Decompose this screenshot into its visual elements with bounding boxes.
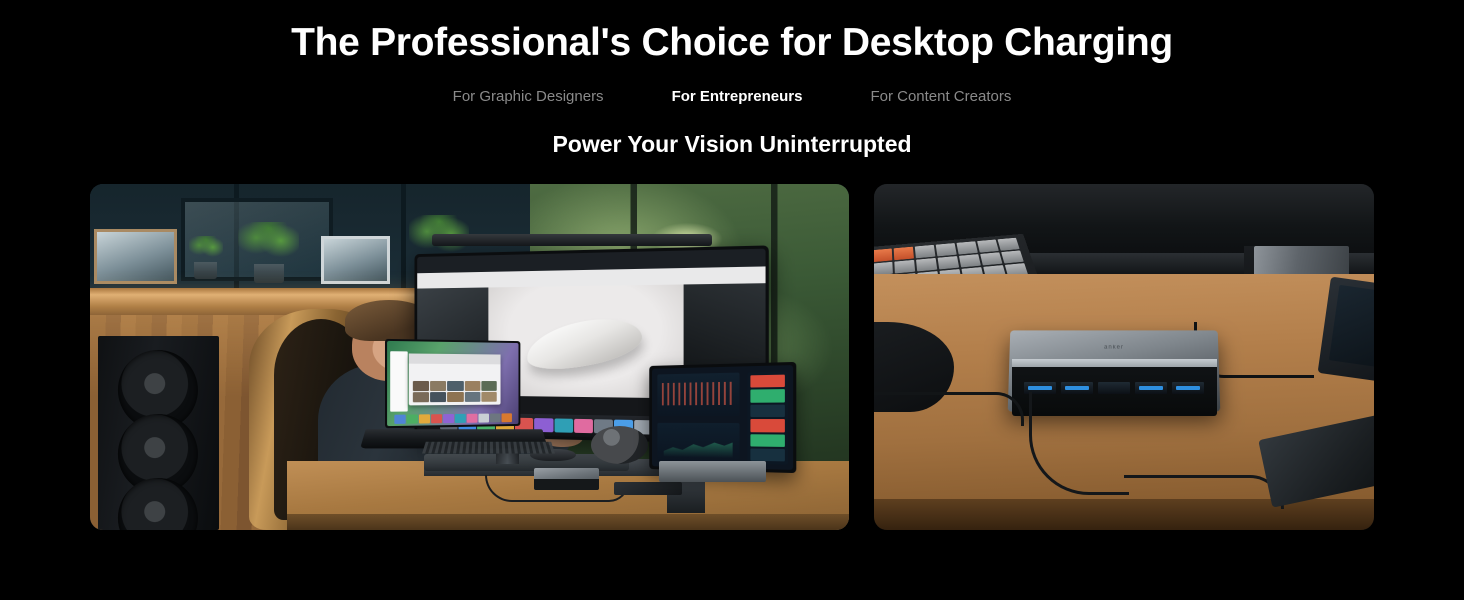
data-row [750, 448, 785, 461]
photo-thumbnail [448, 392, 464, 402]
docking-station-closeup-image[interactable]: anker [874, 184, 1374, 530]
sell-row [750, 419, 785, 432]
floorstanding-speaker [98, 336, 219, 530]
dock-icon [431, 414, 442, 423]
photo-thumbnail [430, 392, 446, 402]
tab-for-content-creators[interactable]: For Content Creators [836, 86, 1045, 108]
keycap [998, 237, 1020, 250]
keycap-accent [893, 246, 913, 259]
photo-thumbnail [430, 381, 446, 391]
plant-pot [254, 264, 284, 283]
usb-a-port [1135, 382, 1167, 394]
photo-thumbnail [465, 381, 481, 391]
dock-icon [478, 413, 489, 422]
order-book-panel [747, 371, 788, 464]
candlestick-chart [657, 373, 740, 416]
photo-thumbnail-grid [413, 381, 497, 402]
keycap [915, 245, 936, 258]
photo-thumbnail [413, 392, 429, 402]
dock-icon [490, 413, 501, 422]
keycap [894, 260, 915, 274]
dock-icon [501, 413, 511, 422]
keycap [937, 256, 959, 270]
usb-cable [874, 392, 1024, 427]
framed-photo [321, 236, 389, 284]
photo-thumbnail [481, 391, 497, 401]
brand-logo: anker [1104, 345, 1124, 351]
workspace-wide-shot-image[interactable] [90, 184, 849, 530]
tablet-screen [652, 365, 793, 470]
dock-icon [443, 413, 454, 422]
promo-banner: The Professional's Choice for Desktop Ch… [0, 0, 1464, 600]
page-subtitle: Power Your Vision Uninterrupted [0, 128, 1464, 160]
desk-edge [287, 514, 849, 530]
dock-icon [455, 413, 466, 422]
laptop-macos-dock [394, 413, 512, 424]
tablet [649, 362, 796, 473]
laptop [385, 339, 520, 428]
external-keyboard [422, 441, 555, 453]
photo-thumbnail [448, 381, 464, 391]
sell-row [750, 375, 785, 388]
keycap [959, 254, 981, 268]
dock-icon [394, 414, 405, 423]
keycap [956, 241, 978, 254]
laptop-screen [387, 341, 518, 426]
tab-for-graphic-designers[interactable]: For Graphic Designers [419, 86, 638, 108]
laptop-side-window [390, 351, 408, 412]
keycap [977, 239, 999, 252]
finder-window [409, 353, 501, 405]
workspace-scene [90, 184, 849, 530]
buy-row [750, 389, 785, 402]
dock-icon [419, 414, 430, 423]
speaker-driver [118, 478, 198, 530]
usb-cable [1124, 475, 1284, 510]
buy-row [750, 434, 785, 447]
smart-speaker-sphere [591, 426, 648, 464]
audience-tab-list: For Graphic Designers For Entrepreneurs … [0, 86, 1464, 108]
framed-photo [94, 229, 177, 284]
photo-thumbnail [413, 381, 429, 391]
monitor-light-bar [432, 234, 713, 246]
data-row [750, 404, 785, 417]
finder-title-bar [409, 353, 501, 364]
usb-a-port [1172, 382, 1204, 394]
plant-pot [194, 262, 217, 279]
keycap [1001, 250, 1024, 264]
smartphone-on-desk [614, 482, 682, 496]
dock-icon [467, 413, 478, 422]
keycap [936, 243, 957, 256]
photo-thumbnail [465, 391, 481, 401]
tablet-stand [659, 461, 765, 482]
area-chart [657, 422, 740, 463]
tab-for-entrepreneurs[interactable]: For Entrepreneurs [638, 86, 837, 108]
wireless-mouse-render [523, 310, 646, 376]
dock-closeup-scene: anker [874, 184, 1374, 530]
photo-thumbnail [481, 381, 497, 391]
keycap [980, 252, 1003, 266]
dock-icon [574, 419, 593, 434]
keycap [916, 258, 937, 272]
dock-icon [406, 414, 417, 423]
image-gallery: anker [90, 184, 1374, 530]
page-title: The Professional's Choice for Desktop Ch… [0, 18, 1464, 68]
keycap-accent [874, 248, 892, 262]
dock-icon [554, 418, 573, 433]
